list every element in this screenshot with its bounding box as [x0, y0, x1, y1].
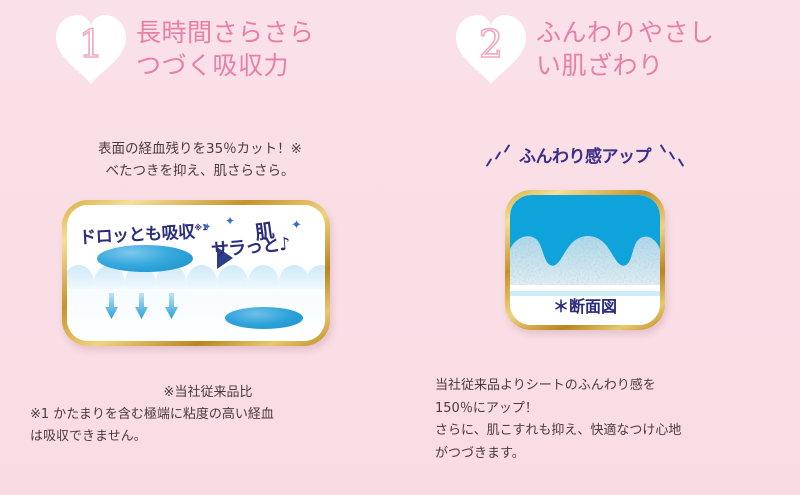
heart-badge-2: 2: [452, 12, 530, 86]
badge-number-2: 2: [452, 25, 530, 63]
heading-block-1: 1 長時間さらさら つづく吸収力: [52, 8, 315, 86]
absorption-card-inner: ドロッとも吸収※1 ✦ ✦ ✦ 肌 サラっと♪: [67, 205, 325, 341]
liquid-blob-top: [97, 245, 193, 272]
lead-copy-1: 表面の経血残りを35％カット！※ べたつきを抑え、肌さらさら。: [0, 138, 400, 182]
down-arrow-icon: [165, 293, 178, 319]
heart-badge-1: 1: [52, 12, 130, 86]
column-left: 1 長時間さらさら つづく吸収力 表面の経血残りを35％カット！※ べたつきを抑…: [0, 0, 400, 495]
promo-page: 1 長時間さらさら つづく吸収力 表面の経血残りを35％カット！※ べたつきを抑…: [0, 0, 800, 495]
footnote-clots-note: ※1 かたまりを含む極端に粘度の高い経血 は吸収できません。: [30, 404, 386, 448]
heading-text-1: 長時間さらさら つづく吸収力: [136, 8, 315, 82]
badge-number-1: 1: [52, 25, 130, 63]
footnotes-block-1: ※当社従来品比 ※1 かたまりを含む極端に粘度の高い経血 は吸収できません。: [30, 382, 386, 448]
cross-section-caption: ＊断面図: [510, 293, 660, 317]
cross-section-illustration-card: ＊断面図: [505, 190, 665, 330]
label-skin-dry: ✦ ✦ ✦ 肌 サラっと♪: [203, 217, 315, 261]
fluffy-up-banner: ふんわり感アップ: [470, 142, 700, 174]
heading-text-2: ふんわりやさし い肌ざわり: [536, 8, 715, 82]
sparkle-icon: ✦: [203, 223, 211, 233]
sparkle-icon: ✦: [291, 219, 302, 232]
sparkle-icon: ✦: [225, 215, 235, 227]
cross-section-card-inner: ＊断面図: [510, 195, 660, 325]
banner-label: ふんわり感アップ: [470, 142, 700, 167]
down-arrow-icon: [135, 293, 148, 319]
absorption-illustration-card: ドロッとも吸収※1 ✦ ✦ ✦ 肌 サラっと♪: [62, 200, 330, 346]
body-copy-2: 当社従来品よりシートのふんわり感を 150％にアップ！ さらに、肌こすれも抑え、…: [435, 375, 775, 465]
label-dry-feel: サラっと♪: [210, 230, 290, 263]
down-arrow-icon: [105, 293, 118, 319]
liquid-blob-bottom: [225, 307, 303, 329]
heading-block-2: 2 ふんわりやさし い肌ざわり: [452, 8, 715, 86]
footnote-company-comparison: ※当社従来品比: [30, 382, 386, 404]
